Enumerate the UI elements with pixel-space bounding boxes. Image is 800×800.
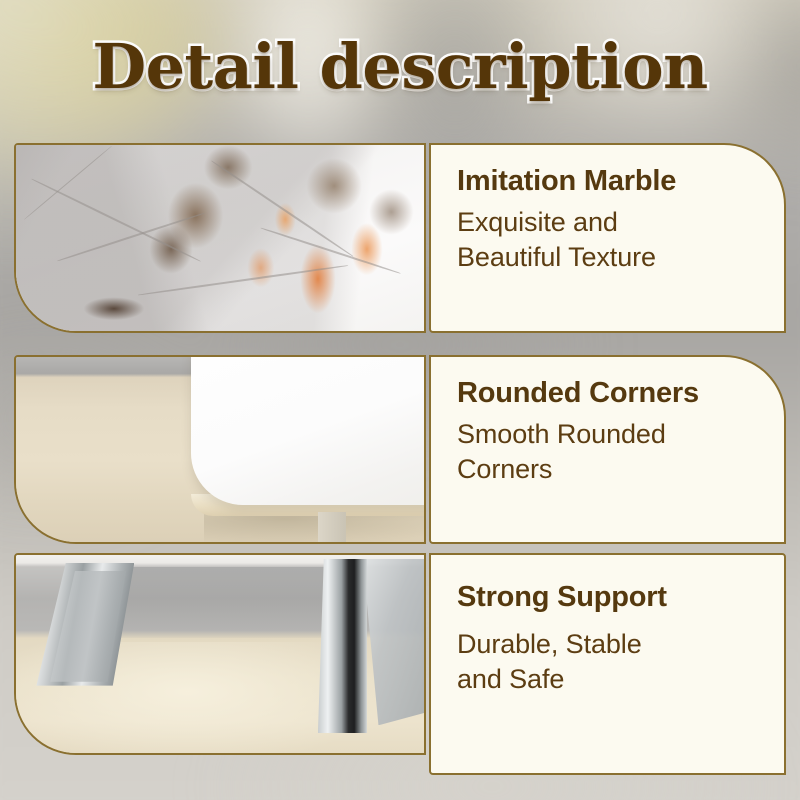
wall-shadow (106, 567, 343, 638)
table-legs-photo-surface (16, 555, 424, 753)
feature-body-text: Smooth Rounded Corners (457, 417, 762, 486)
page-title: Detail description (92, 36, 707, 98)
feature-body-text: Exquisite and Beautiful Texture (457, 205, 762, 274)
rounded-corner-photo (14, 355, 426, 544)
feature-card-imitation-marble: Imitation Marble Exquisite and Beautiful… (14, 143, 786, 333)
feature-card-text-panel: Imitation Marble Exquisite and Beautiful… (429, 143, 786, 333)
feature-card-text-panel: Strong Support Durable, Stable and Safe (429, 553, 786, 775)
table-top (191, 355, 426, 505)
table-leg (318, 512, 347, 544)
feature-card-rounded-corners: Rounded Corners Smooth Rounded Corners (14, 355, 786, 544)
feature-heading: Strong Support (457, 581, 762, 613)
marble-texture-photo (14, 143, 426, 333)
table-legs-photo (14, 553, 426, 755)
feature-heading: Imitation Marble (457, 165, 762, 197)
feature-heading: Rounded Corners (457, 377, 762, 409)
page-title-container: Detail description (0, 36, 800, 98)
feature-card-list: Imitation Marble Exquisite and Beautiful… (0, 0, 800, 800)
feature-card-strong-support: Strong Support Durable, Stable and Safe (14, 553, 786, 775)
feature-body-text: Durable, Stable and Safe (457, 627, 762, 696)
marble-photo-surface (16, 145, 424, 331)
chrome-leg-right (318, 559, 367, 733)
feature-card-text-panel: Rounded Corners Smooth Rounded Corners (429, 355, 786, 544)
rounded-corner-photo-surface (16, 357, 424, 542)
table-shadow (204, 512, 426, 544)
